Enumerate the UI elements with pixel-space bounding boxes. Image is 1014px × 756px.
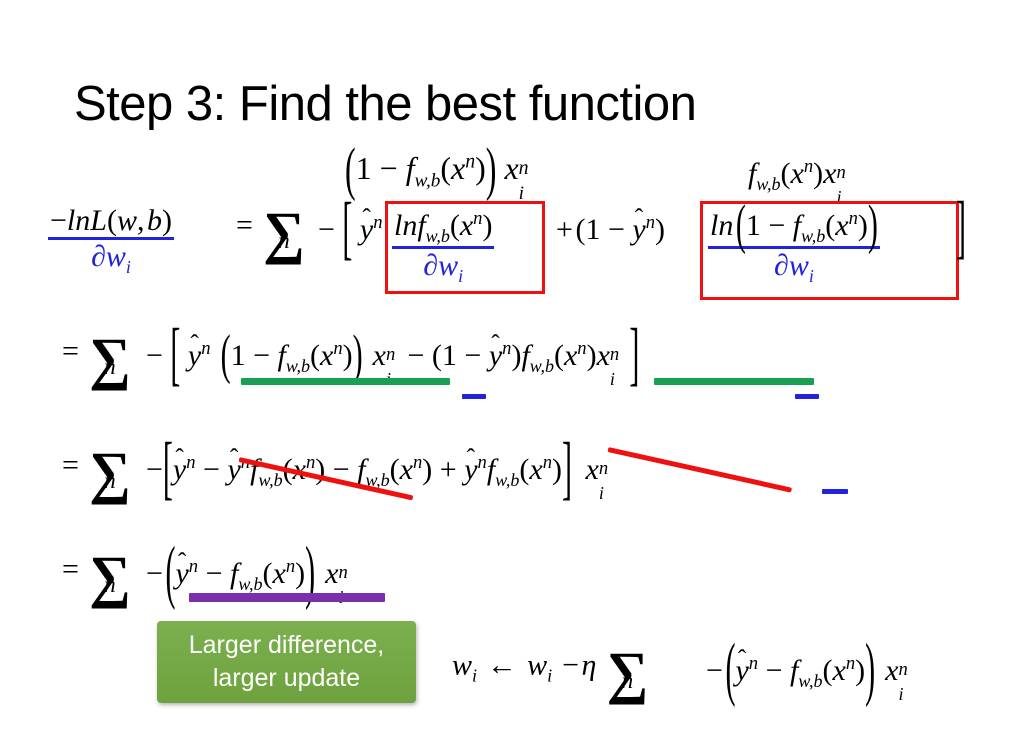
update-rule-rhs: − (ŷn − fw,b(xn)) xni xyxy=(706,655,910,690)
equation-line3-sum: = ∑n xyxy=(62,450,131,497)
lbracket-icon: [ xyxy=(342,195,352,266)
green-underline-2 xyxy=(654,378,814,385)
equation-line2-sum: = ∑n xyxy=(62,336,131,383)
callout-line-2: larger update xyxy=(213,662,360,695)
equation-line1-sum: = ∑n xyxy=(236,210,305,257)
rbracket-icon: ] xyxy=(562,435,572,506)
blue-underline-1 xyxy=(462,394,486,399)
update-rule-lhs: wi ← wi − η ∑n xyxy=(452,650,648,697)
lparen-icon: ( xyxy=(725,636,735,707)
blue-underline-2 xyxy=(795,394,819,399)
equation-line1-term-b: + (1 − ŷn) xyxy=(556,214,665,245)
lbracket-icon: [ xyxy=(163,435,173,506)
summation-icon: ∑n xyxy=(89,450,131,497)
summation-icon: ∑n xyxy=(606,650,648,697)
equation-line4-sum: = ∑n xyxy=(62,554,131,601)
rbracket-icon: ] xyxy=(629,321,639,392)
lparen-icon: ( xyxy=(165,539,175,610)
purple-underline xyxy=(189,593,385,602)
callout-line-1: Larger difference, xyxy=(189,629,385,662)
arrow-left-icon: ← xyxy=(487,648,517,681)
rparen-icon: ) xyxy=(353,328,363,384)
equation-line1-term-a: − [ ŷn xyxy=(318,214,383,245)
page-title: Step 3: Find the best function xyxy=(74,76,696,132)
rparen-icon: ) xyxy=(486,138,497,197)
rparen-icon: ) xyxy=(868,198,878,254)
strikethrough-2 xyxy=(607,447,792,493)
lparen-icon: ( xyxy=(221,328,231,384)
equation-line1-lhs: −lnL(w, b) ∂wi xyxy=(48,206,174,276)
blue-underline-3 xyxy=(822,489,848,494)
annotation-left-numerator: (1 − fw,b(xn)) xni xyxy=(345,152,529,191)
summation-icon: ∑n xyxy=(263,210,305,257)
equation-line1-frac-1: lnfw,b(xn) ∂wi xyxy=(392,210,494,285)
equation-line4-body: − (ŷn − fw,b(xn)) xni xyxy=(146,558,350,593)
lbracket-icon: [ xyxy=(170,321,180,392)
callout-larger-difference: Larger difference, larger update xyxy=(157,621,416,703)
summation-icon: ∑n xyxy=(89,336,131,383)
equation-line1-rbracket: ] xyxy=(956,214,966,244)
lparen-icon: ( xyxy=(736,198,746,254)
rparen-icon: ) xyxy=(865,636,875,707)
equation-line3-body: −[ŷn − ŷnfw,b(xn) − fw,b(xn) + ŷnfw,b… xyxy=(146,454,611,489)
annotation-right-numerator: fw,b(xn)xni xyxy=(748,158,846,193)
rbracket-icon: ] xyxy=(956,194,966,265)
equation-line1-frac-2: ln (1 − fw,b(xn)) ∂wi xyxy=(708,210,880,285)
summation-icon: ∑n xyxy=(89,554,131,601)
green-underline-1 xyxy=(241,378,450,385)
equation-line2-body: − [ ŷn (1 − fw,b(xn)) xni − (1 − ŷn)fw… xyxy=(146,340,639,375)
lparen-icon: ( xyxy=(345,138,356,197)
